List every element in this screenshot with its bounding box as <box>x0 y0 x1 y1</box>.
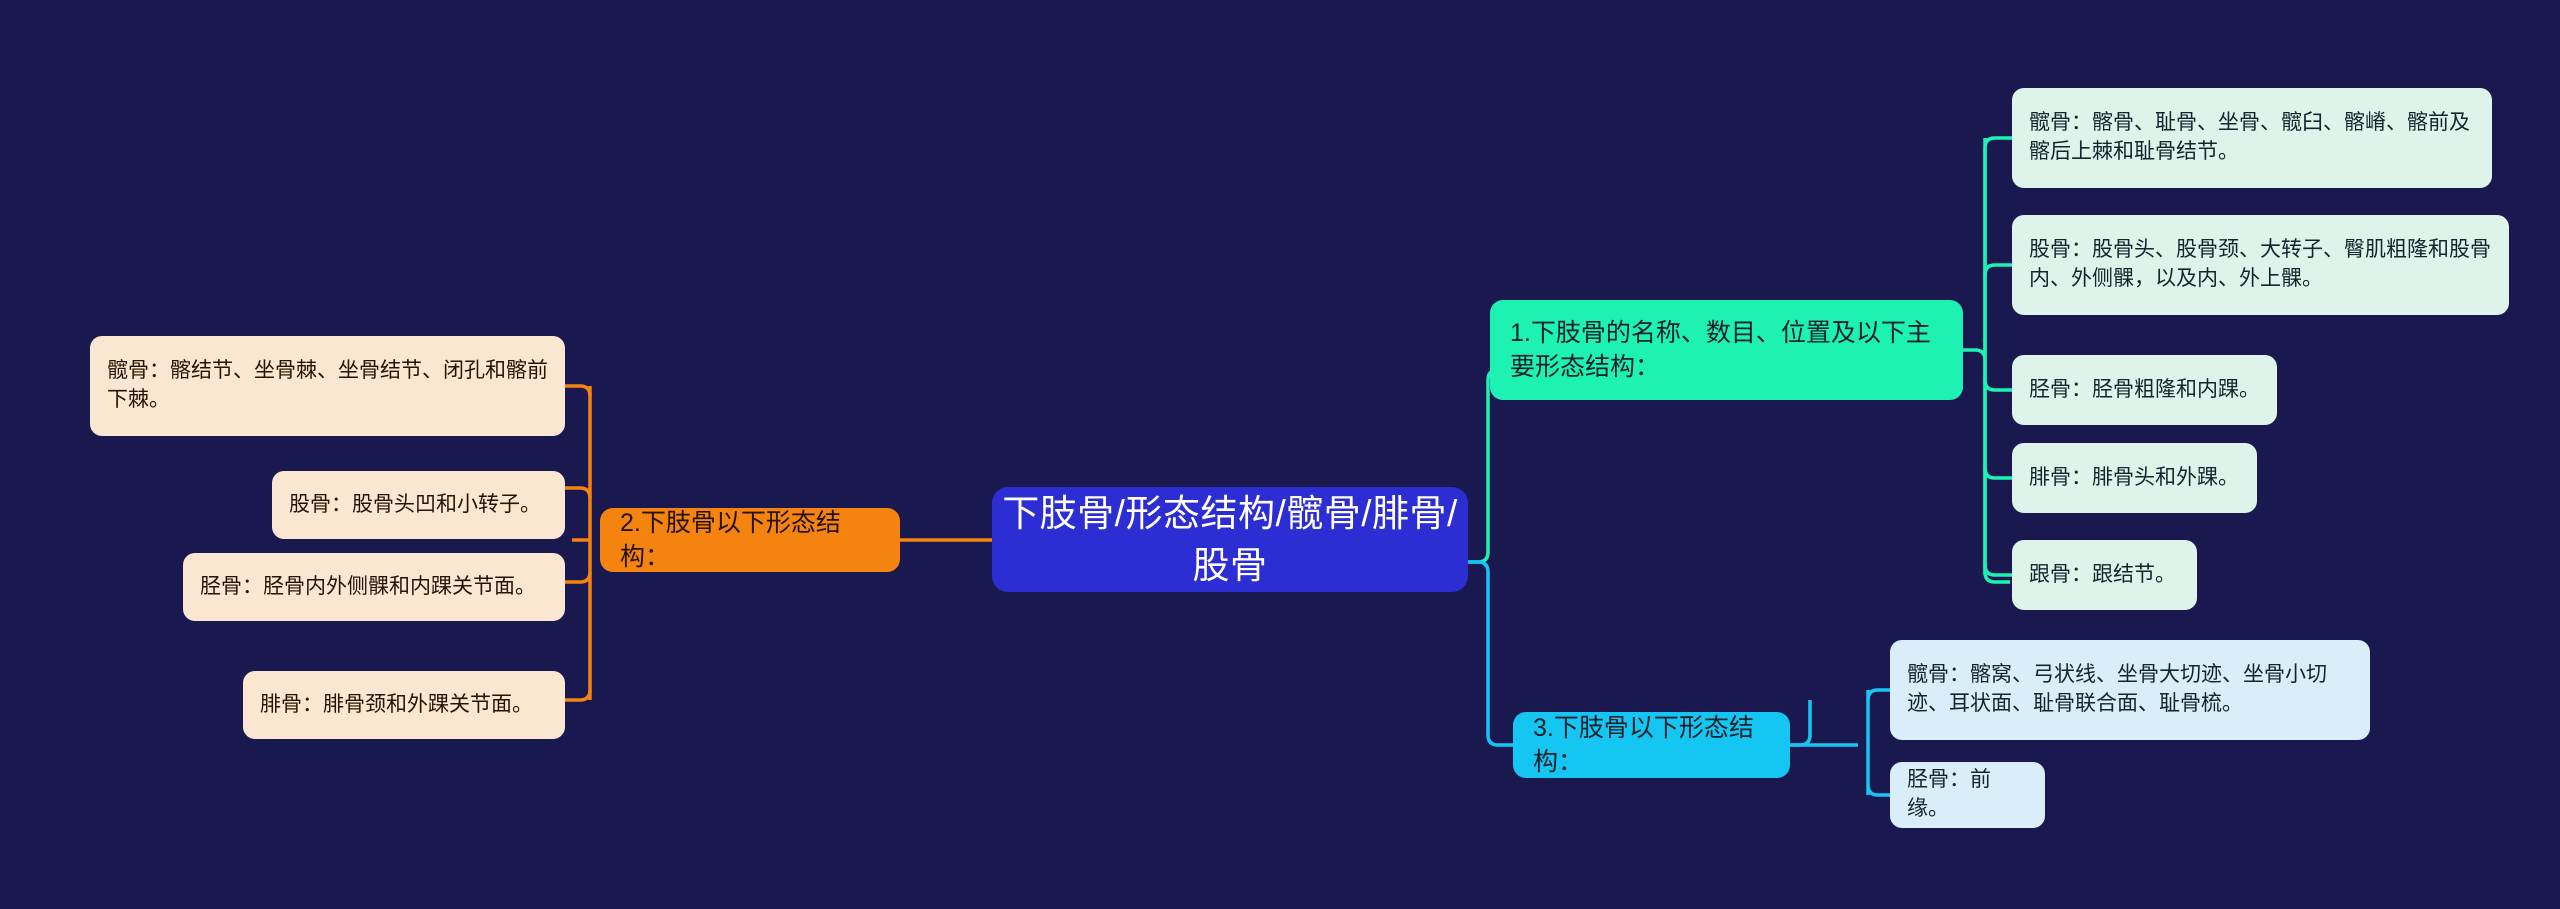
mindmap-canvas: 下肢骨/形态结构/髋骨/腓骨/股骨 1.下肢骨的名称、数目、位置及以下主要形态结… <box>0 0 2560 909</box>
leaf-node-3-1[interactable]: 髋骨：髂窝、弓状线、坐骨大切迹、坐骨小切迹、耳状面、耻骨联合面、耻骨梳。 <box>1890 640 2370 740</box>
connector-branch-3-leaf-2 <box>1868 785 1890 795</box>
leaf-node-3-1-label: 髋骨：髂窝、弓状线、坐骨大切迹、坐骨小切迹、耳状面、耻骨联合面、耻骨梳。 <box>1907 661 2353 719</box>
branch-node-2[interactable]: 2.下肢骨以下形态结构： <box>600 508 900 572</box>
branch-node-3-label: 3.下肢骨以下形态结构： <box>1533 711 1770 780</box>
connector-branch-1-trunk <box>1963 350 2010 582</box>
leaf-node-2-4[interactable]: 腓骨：腓骨颈和外踝关节面。 <box>243 671 565 739</box>
connector-branch-2-leaf-4 <box>565 690 590 700</box>
leaf-node-1-3[interactable]: 胫骨：胫骨粗隆和内踝。 <box>2012 355 2277 425</box>
leaf-node-2-3[interactable]: 胫骨：胫骨内外侧髁和内踝关节面。 <box>183 553 565 621</box>
leaf-node-1-2-label: 股骨：股骨头、股骨颈、大转子、臀肌粗隆和股骨内、外侧髁，以及内、外上髁。 <box>2029 236 2492 294</box>
leaf-node-2-2[interactable]: 股骨：股骨头凹和小转子。 <box>272 471 565 539</box>
connector-branch-2-leaf-3 <box>565 572 590 582</box>
leaf-node-1-4[interactable]: 腓骨：腓骨头和外踝。 <box>2012 443 2257 513</box>
leaf-node-1-2[interactable]: 股骨：股骨头、股骨颈、大转子、臀肌粗隆和股骨内、外侧髁，以及内、外上髁。 <box>2012 215 2509 315</box>
root-node-label: 下肢骨/形态结构/髋骨/腓骨/股骨 <box>992 488 1468 590</box>
connector-branch-1-leaf-5 <box>1985 565 2012 575</box>
connector-root-to-branch-1 <box>1468 370 1498 562</box>
leaf-node-1-1[interactable]: 髋骨：髂骨、耻骨、坐骨、髋臼、髂嵴、髂前及髂后上棘和耻骨结节。 <box>2012 88 2492 188</box>
leaf-node-1-1-label: 髋骨：髂骨、耻骨、坐骨、髋臼、髂嵴、髂前及髂后上棘和耻骨结节。 <box>2029 109 2475 167</box>
branch-node-1-label: 1.下肢骨的名称、数目、位置及以下主要形态结构： <box>1510 316 1943 385</box>
leaf-node-2-3-label: 胫骨：胫骨内外侧髁和内踝关节面。 <box>200 573 548 602</box>
branch-node-2-label: 2.下肢骨以下形态结构： <box>620 506 880 575</box>
connector-branch-3-trunk <box>1790 700 1810 745</box>
leaf-node-1-3-label: 胫骨：胫骨粗隆和内踝。 <box>2029 376 2260 405</box>
leaf-node-3-2[interactable]: 胫骨：前缘。 <box>1890 762 2045 828</box>
connector-branch-1-leaf-3 <box>1985 380 2012 390</box>
connector-branch-2-leaf-1 <box>565 386 590 396</box>
connector-root-to-branch-3 <box>1468 562 1513 745</box>
leaf-node-2-4-label: 腓骨：腓骨颈和外踝关节面。 <box>260 691 548 720</box>
branch-node-3[interactable]: 3.下肢骨以下形态结构： <box>1513 712 1790 778</box>
leaf-node-2-1[interactable]: 髋骨：髂结节、坐骨棘、坐骨结节、闭孔和髂前下棘。 <box>90 336 565 436</box>
connector-branch-3-leaf-1 <box>1868 690 1890 700</box>
root-node[interactable]: 下肢骨/形态结构/髋骨/腓骨/股骨 <box>992 487 1468 592</box>
branch-node-1[interactable]: 1.下肢骨的名称、数目、位置及以下主要形态结构： <box>1490 300 1963 400</box>
leaf-node-1-5[interactable]: 跟骨：跟结节。 <box>2012 540 2197 610</box>
connector-branch-1-leaf-2 <box>1985 420 2012 430</box>
leaf-node-1-5-label: 跟骨：跟结节。 <box>2029 561 2180 590</box>
connector-branch-1-leaf-2b <box>1985 265 2012 275</box>
leaf-node-2-1-label: 髋骨：髂结节、坐骨棘、坐骨结节、闭孔和髂前下棘。 <box>107 357 548 415</box>
connector-branch-2-leaf-2 <box>565 488 590 498</box>
leaf-node-1-4-label: 腓骨：腓骨头和外踝。 <box>2029 464 2240 493</box>
connector-branch-1-leaf-1 <box>1985 138 2012 360</box>
leaf-node-3-2-label: 胫骨：前缘。 <box>1907 766 2028 824</box>
leaf-node-2-2-label: 股骨：股骨头凹和小转子。 <box>289 491 548 520</box>
connector-branch-1-leaf-4 <box>1985 468 2012 478</box>
